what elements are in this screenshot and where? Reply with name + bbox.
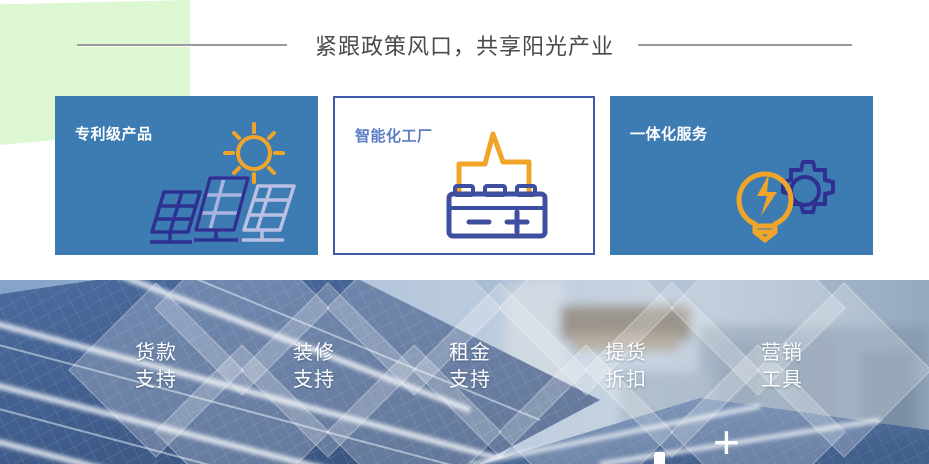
photo-banner: 货款 支持 装修 支持 租金 支持 提货 折扣 营销 工具: [0, 280, 929, 464]
benefit-line-2: 工具: [722, 367, 842, 394]
poster-page: 紧跟政策风口，共享阳光产业 专利级产品: [0, 0, 929, 464]
benefit-label-row: 货款 支持 装修 支持 租金 支持 提货 折扣 营销 工具: [0, 280, 929, 464]
benefit-line-1: 营销: [722, 340, 842, 367]
battery-bolt-icon: [441, 122, 559, 245]
benefit-line-1: 提货: [566, 340, 686, 367]
feature-card-patent-product[interactable]: 专利级产品: [55, 96, 318, 255]
benefit-line-2: 支持: [254, 367, 374, 394]
solar-panel-sun-icon: [134, 118, 314, 251]
benefit-line-2: 支持: [410, 367, 530, 394]
benefit-item[interactable]: 营销 工具: [722, 340, 842, 394]
benefit-line-2: 折扣: [566, 367, 686, 394]
benefit-line-1: 租金: [410, 340, 530, 367]
feature-card-label: 一体化服务: [630, 123, 708, 144]
heading-rule-left: [77, 44, 287, 46]
section-heading: 紧跟政策风口，共享阳光产业: [0, 28, 929, 62]
benefit-line-1: 货款: [96, 340, 216, 367]
benefit-item[interactable]: 租金 支持: [410, 340, 530, 394]
page-title: 紧跟政策风口，共享阳光产业: [315, 29, 614, 61]
benefit-line-1: 装修: [254, 340, 374, 367]
benefit-item[interactable]: 提货 折扣: [566, 340, 686, 394]
lightbulb-gear-icon: [717, 134, 841, 249]
heading-rule-right: [638, 44, 852, 46]
benefit-item[interactable]: 货款 支持: [96, 340, 216, 394]
feature-card-integrated-service[interactable]: 一体化服务: [610, 96, 873, 255]
benefit-line-2: 支持: [96, 367, 216, 394]
dot-mark-icon: [654, 452, 665, 464]
feature-card-list: 专利级产品: [55, 96, 873, 255]
benefit-item[interactable]: 装修 支持: [254, 340, 374, 394]
feature-card-label: 智能化工厂: [355, 125, 433, 146]
feature-card-smart-factory[interactable]: 智能化工厂: [333, 96, 595, 255]
plus-mark-icon: +: [713, 424, 740, 460]
